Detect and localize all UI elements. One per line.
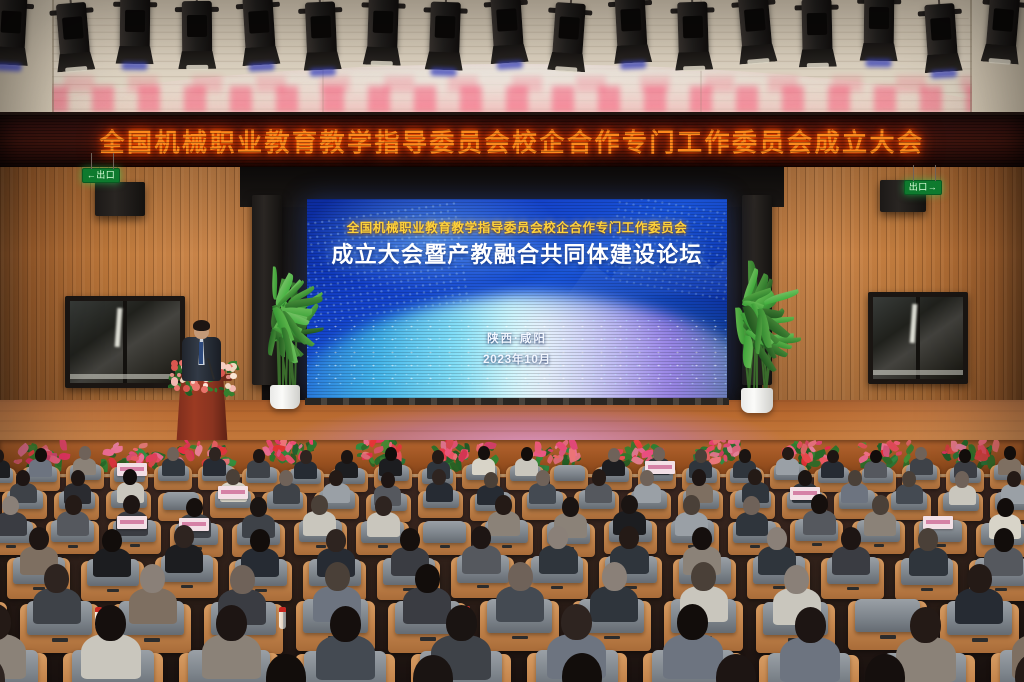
audience-shoulders <box>462 545 500 574</box>
exit-sign-label: 出口→ <box>909 183 938 192</box>
flower-petal <box>816 441 822 445</box>
flower-bloom <box>174 385 180 391</box>
audience-member <box>602 562 627 623</box>
audience-head <box>29 527 49 550</box>
audience-member <box>994 528 1014 577</box>
stage-light <box>305 1 337 56</box>
palm-pot <box>741 388 773 413</box>
audience-shoulders <box>162 458 185 475</box>
light-lens <box>558 16 579 39</box>
placard-text <box>926 520 950 524</box>
audience-head <box>521 447 533 461</box>
audience-head <box>827 450 839 464</box>
seat-number-tag <box>144 638 160 642</box>
audience-head <box>619 526 639 549</box>
audience-shoulders <box>33 588 81 624</box>
audience-head <box>608 448 620 462</box>
seat-cushion <box>423 521 466 543</box>
palm-pot <box>270 385 300 409</box>
audience-shoulders <box>864 461 887 478</box>
flower-petal <box>723 443 730 448</box>
led-banner-text: 全国机械职业教育教学指导委员会校企合作专门工作委员会成立大会 <box>99 123 924 159</box>
light-body <box>552 2 586 58</box>
speaker-hair <box>193 320 210 331</box>
light-lens <box>1 10 22 33</box>
seat-number-tag <box>181 585 194 588</box>
audience-head <box>311 495 328 515</box>
flower-petal <box>534 441 542 454</box>
audience-head <box>602 562 627 591</box>
light-blue-beam <box>931 69 957 79</box>
audience-member <box>870 450 882 479</box>
light-glow <box>186 65 208 70</box>
audience-head <box>994 528 1014 551</box>
light-lens <box>744 8 766 32</box>
light-lens <box>930 17 951 40</box>
ceiling-seam <box>52 0 54 118</box>
audience-head <box>739 449 751 463</box>
seat-number-tag <box>107 589 120 592</box>
audience-head <box>432 450 444 464</box>
flower-bloom <box>192 383 200 391</box>
audience-head <box>266 654 306 682</box>
window-mullion <box>123 301 127 383</box>
flower-bloom <box>230 367 235 372</box>
audience-head <box>325 562 350 591</box>
stage-light <box>367 0 399 51</box>
light-body <box>986 0 1020 50</box>
light-blue-beam <box>866 59 892 67</box>
light-body <box>864 0 895 47</box>
seat-number-tag <box>750 545 761 548</box>
audience-head <box>253 449 265 463</box>
audience-head <box>902 471 916 487</box>
flower-bloom <box>225 383 231 389</box>
audience-shoulders <box>57 511 90 536</box>
audience-member <box>44 564 69 625</box>
light-lens <box>62 16 84 40</box>
audience-member <box>811 494 828 535</box>
audience-head <box>44 564 69 593</box>
audience-shoulders <box>165 544 203 573</box>
audience-member <box>1015 653 1024 682</box>
seat-number-tag <box>512 636 528 640</box>
audience-shoulders <box>585 483 612 503</box>
flower-petal <box>896 451 902 455</box>
bottle-cap <box>279 607 286 612</box>
audience-shoulders <box>29 459 52 476</box>
light-body <box>0 0 27 52</box>
audience-shoulders <box>0 460 10 477</box>
flower-petal <box>723 455 727 462</box>
audience-member <box>375 496 392 537</box>
flower-petal <box>130 455 139 462</box>
light-blue-beam <box>0 62 22 71</box>
audience-head <box>326 529 346 552</box>
flower-leaf <box>904 444 915 455</box>
audience-head <box>653 447 665 461</box>
audience-shoulders <box>316 635 376 680</box>
potted-palm <box>718 282 796 414</box>
audience-shoulders <box>832 546 870 575</box>
stage-light <box>615 0 648 50</box>
seat-cushion <box>554 465 585 481</box>
flower-petal <box>310 440 314 445</box>
audience-member <box>432 469 446 503</box>
led-banner: 全国机械职业教育教学指导委员会校企合作专门工作委员会成立大会 <box>0 115 1024 167</box>
light-blue-beam <box>620 60 646 69</box>
light-lens <box>248 10 269 33</box>
audience-member <box>955 471 969 505</box>
stage-light <box>924 3 958 59</box>
audience-head <box>955 471 969 487</box>
audience-member <box>0 449 4 478</box>
audience-head <box>35 448 47 462</box>
audience-member <box>521 447 533 476</box>
audience-member <box>865 654 905 682</box>
seat-number-tag <box>378 545 389 548</box>
audience-head <box>484 472 498 488</box>
audience-head <box>967 564 992 593</box>
flower-petal <box>139 442 148 448</box>
water-bottle <box>279 607 286 629</box>
audience-member <box>167 447 179 476</box>
flower-petal <box>15 459 22 464</box>
light-body <box>924 3 958 59</box>
stage-light <box>242 0 275 52</box>
audience-shoulders <box>496 586 544 622</box>
audience-member <box>413 655 453 682</box>
light-blue-beam <box>497 60 523 70</box>
light-body <box>801 0 832 53</box>
audience-shoulders <box>403 587 451 623</box>
audience-head <box>536 470 550 486</box>
audience-member <box>330 606 361 682</box>
audience-member <box>872 495 889 536</box>
audience-member <box>782 447 794 476</box>
audience-member <box>827 450 839 479</box>
audience-shoulders <box>821 461 844 478</box>
light-body <box>429 2 461 57</box>
audience-member <box>640 470 654 504</box>
name-placard <box>218 486 248 499</box>
light-blue-beam <box>310 67 336 76</box>
ceiling-seam <box>970 0 972 118</box>
audience-member <box>216 605 247 681</box>
audience-member <box>915 447 927 476</box>
audience-member <box>102 529 122 578</box>
audience-head <box>230 565 255 594</box>
speaker-tie <box>199 342 203 364</box>
audience-head <box>381 472 395 488</box>
audience-shoulders <box>247 460 270 477</box>
name-placard <box>117 516 147 529</box>
audience-member <box>0 656 5 682</box>
audience-member <box>716 654 756 682</box>
audience-member <box>2 496 19 537</box>
audience-head <box>375 496 392 516</box>
audience-member <box>918 528 938 577</box>
audience-head <box>216 605 247 641</box>
audience-member <box>841 527 861 576</box>
stage-light <box>0 0 27 52</box>
audience-member <box>562 653 602 682</box>
audience-head <box>811 494 828 514</box>
audience-head <box>385 447 397 461</box>
speaker-at-podium <box>180 322 222 380</box>
audience-member <box>35 448 47 477</box>
audience-head <box>341 450 353 464</box>
audience-member <box>65 495 82 536</box>
audience-head <box>250 529 270 552</box>
audience-head <box>748 469 762 485</box>
audience-head <box>677 604 708 640</box>
audience-shoulders <box>736 512 769 537</box>
audience-member <box>266 654 306 682</box>
seat-number-tag <box>551 586 564 589</box>
audience-member <box>592 469 606 503</box>
flower-petal <box>991 440 1001 452</box>
audience-member <box>548 526 568 575</box>
audience-head <box>432 469 446 485</box>
audience-shoulders <box>81 634 141 679</box>
audience-head <box>330 606 361 642</box>
seat-number-tag <box>68 545 79 548</box>
audience-head <box>71 470 85 486</box>
audience-head <box>692 527 712 550</box>
audience-member <box>279 470 293 504</box>
seat-number-tag <box>874 544 885 547</box>
audience-head <box>79 446 91 460</box>
audience-head <box>1007 471 1021 487</box>
light-body <box>615 0 648 50</box>
audience-head <box>561 604 592 640</box>
light-lens <box>496 8 517 31</box>
audience-head <box>640 470 654 486</box>
window-sill <box>70 374 180 379</box>
audience-head <box>174 525 194 548</box>
audience-head <box>841 527 861 550</box>
audience-head <box>865 654 905 682</box>
light-blue-beam <box>122 62 148 70</box>
light-body <box>367 0 399 51</box>
seat-number-tag <box>921 588 934 591</box>
audience-head <box>997 498 1014 518</box>
light-body <box>490 0 523 50</box>
audience-member <box>743 496 760 537</box>
audience-member <box>902 471 916 505</box>
light-lens <box>620 8 641 31</box>
audience-head <box>784 565 809 594</box>
audience-head <box>329 470 343 486</box>
audience-head <box>95 605 126 641</box>
audience-head <box>872 495 889 515</box>
stage-light <box>490 0 523 50</box>
audience-head <box>767 527 787 550</box>
light-lens <box>807 13 827 35</box>
audience-shoulders <box>367 512 400 537</box>
audience-head <box>300 450 312 464</box>
audience-head <box>140 564 165 593</box>
audience-shoulders <box>488 511 521 536</box>
seat-number-tag <box>812 543 823 546</box>
name-placard <box>923 516 953 529</box>
audience-shoulders <box>864 511 897 536</box>
ceiling-light-wash <box>0 86 1024 112</box>
screen-title-line2: 成立大会暨产教融合共同体建设论坛 <box>307 237 727 269</box>
stage-light <box>429 2 461 57</box>
seat-number-tag <box>130 544 141 547</box>
audience-shoulders <box>780 637 840 682</box>
placard-text <box>120 520 144 524</box>
flower-bloom <box>183 385 190 392</box>
window-sill <box>873 370 963 375</box>
light-lens <box>992 8 1014 32</box>
audience-member <box>471 526 491 575</box>
audience-head <box>16 470 30 486</box>
seat-number-tag <box>6 545 17 548</box>
audience-shoulders <box>203 458 226 475</box>
wall-speaker-left <box>95 182 145 216</box>
presentation-screen: 全国机械职业教育教学指导委员会校企合作专门工作委员会 成立大会暨产教融合共同体建… <box>307 199 727 400</box>
light-lens <box>125 10 145 32</box>
light-body <box>738 0 773 50</box>
audience-head <box>478 446 490 460</box>
audience-head <box>716 654 756 682</box>
audience-head <box>226 469 240 485</box>
audience-member <box>795 607 826 682</box>
audience-head <box>250 497 267 517</box>
flower-bloom <box>230 373 236 379</box>
seat-number-tag <box>477 585 490 588</box>
audience-head <box>695 449 707 463</box>
stage-light <box>120 0 151 50</box>
audience-head <box>400 528 420 551</box>
audience-member <box>608 448 620 477</box>
flower-petal <box>716 443 722 451</box>
audience-head <box>870 450 882 464</box>
stage-light <box>864 0 895 47</box>
audience-head <box>0 656 5 682</box>
seat-number-tag <box>316 545 327 548</box>
light-body <box>242 0 275 52</box>
stage-light <box>738 0 773 50</box>
audience-head <box>167 447 179 461</box>
audience-area <box>0 440 1024 682</box>
flower-bloom <box>201 386 208 393</box>
seat-number-tag <box>847 587 860 590</box>
audience-head <box>495 495 512 515</box>
audience-shoulders <box>896 484 923 504</box>
screen-date: 2023年10月 <box>307 351 727 367</box>
flower-petal <box>59 440 67 451</box>
light-lens <box>869 7 889 29</box>
audience-member <box>174 525 194 574</box>
stage-light <box>801 0 832 53</box>
audience-shoulders <box>294 461 317 478</box>
audience-head <box>446 605 477 641</box>
audience-member <box>848 470 862 504</box>
light-body <box>120 0 151 50</box>
audience-member <box>677 604 708 680</box>
audience-head <box>1015 653 1024 682</box>
light-blue-beam <box>248 62 274 72</box>
audience-shoulders <box>776 458 799 475</box>
audience-shoulders <box>515 458 538 475</box>
stage-light <box>986 0 1020 50</box>
screen-title-line1: 全国机械职业教育教学指导委员会校企合作专门工作委员会 <box>307 217 727 236</box>
audience-member <box>415 564 440 625</box>
audience-head <box>65 495 82 515</box>
stage-light <box>552 2 586 58</box>
audience-shoulders <box>273 483 300 503</box>
audience-member <box>209 447 221 476</box>
screen-location: 陕西·咸阳 <box>307 330 727 346</box>
audience-shoulders <box>663 634 723 679</box>
audience-member <box>967 564 992 625</box>
audience-shoulders <box>949 485 976 505</box>
light-blue-beam <box>430 68 456 77</box>
audience-member <box>508 562 533 623</box>
exit-sign-label: ←出口 <box>87 171 116 180</box>
audience-head <box>782 447 794 461</box>
conference-hall-photo: 全国机械职业教育教学指导委员会校企合作专门工作委员会成立大会 ←出口 出口→ <box>0 0 1024 682</box>
stage-light <box>677 2 709 57</box>
audience-member <box>95 605 126 681</box>
stage-light <box>56 2 90 58</box>
light-lens <box>187 15 207 37</box>
seat-number-tag <box>420 637 436 641</box>
screen-base-trim <box>305 398 729 405</box>
audience-shoulders <box>539 545 577 574</box>
audience-shoulders <box>426 482 453 502</box>
audience-shoulders <box>129 588 177 624</box>
audience-head <box>691 562 716 591</box>
seat-number-tag <box>52 638 68 642</box>
audience-head <box>683 495 700 515</box>
audience-head <box>910 607 941 643</box>
potted-palm <box>248 284 322 410</box>
audience-member <box>329 470 343 504</box>
light-body <box>56 2 90 58</box>
light-glow <box>807 63 829 68</box>
audience-shoulders <box>93 548 131 577</box>
audience-head <box>1004 446 1016 460</box>
audience-member <box>536 470 550 504</box>
audience-head <box>562 653 602 682</box>
exit-sign-left: ←出口 <box>82 168 120 183</box>
audience-member <box>300 450 312 479</box>
seat-number-tag <box>604 636 620 640</box>
audience-head <box>848 470 862 486</box>
audience-shoulders <box>529 483 556 503</box>
light-body <box>305 1 337 56</box>
audience-shoulders <box>841 483 868 503</box>
audience-head <box>562 497 579 517</box>
audience-head <box>471 526 491 549</box>
audience-head <box>102 529 122 552</box>
audience-member <box>140 564 165 625</box>
audience-shoulders <box>803 510 836 535</box>
light-lens <box>373 11 394 34</box>
audience-head <box>209 447 221 461</box>
light-body <box>677 2 709 57</box>
audience-shoulders <box>202 634 262 679</box>
audience-head <box>692 469 706 485</box>
audience-head <box>508 562 533 591</box>
audience-member <box>910 607 941 682</box>
seat-number-tag <box>880 635 896 639</box>
